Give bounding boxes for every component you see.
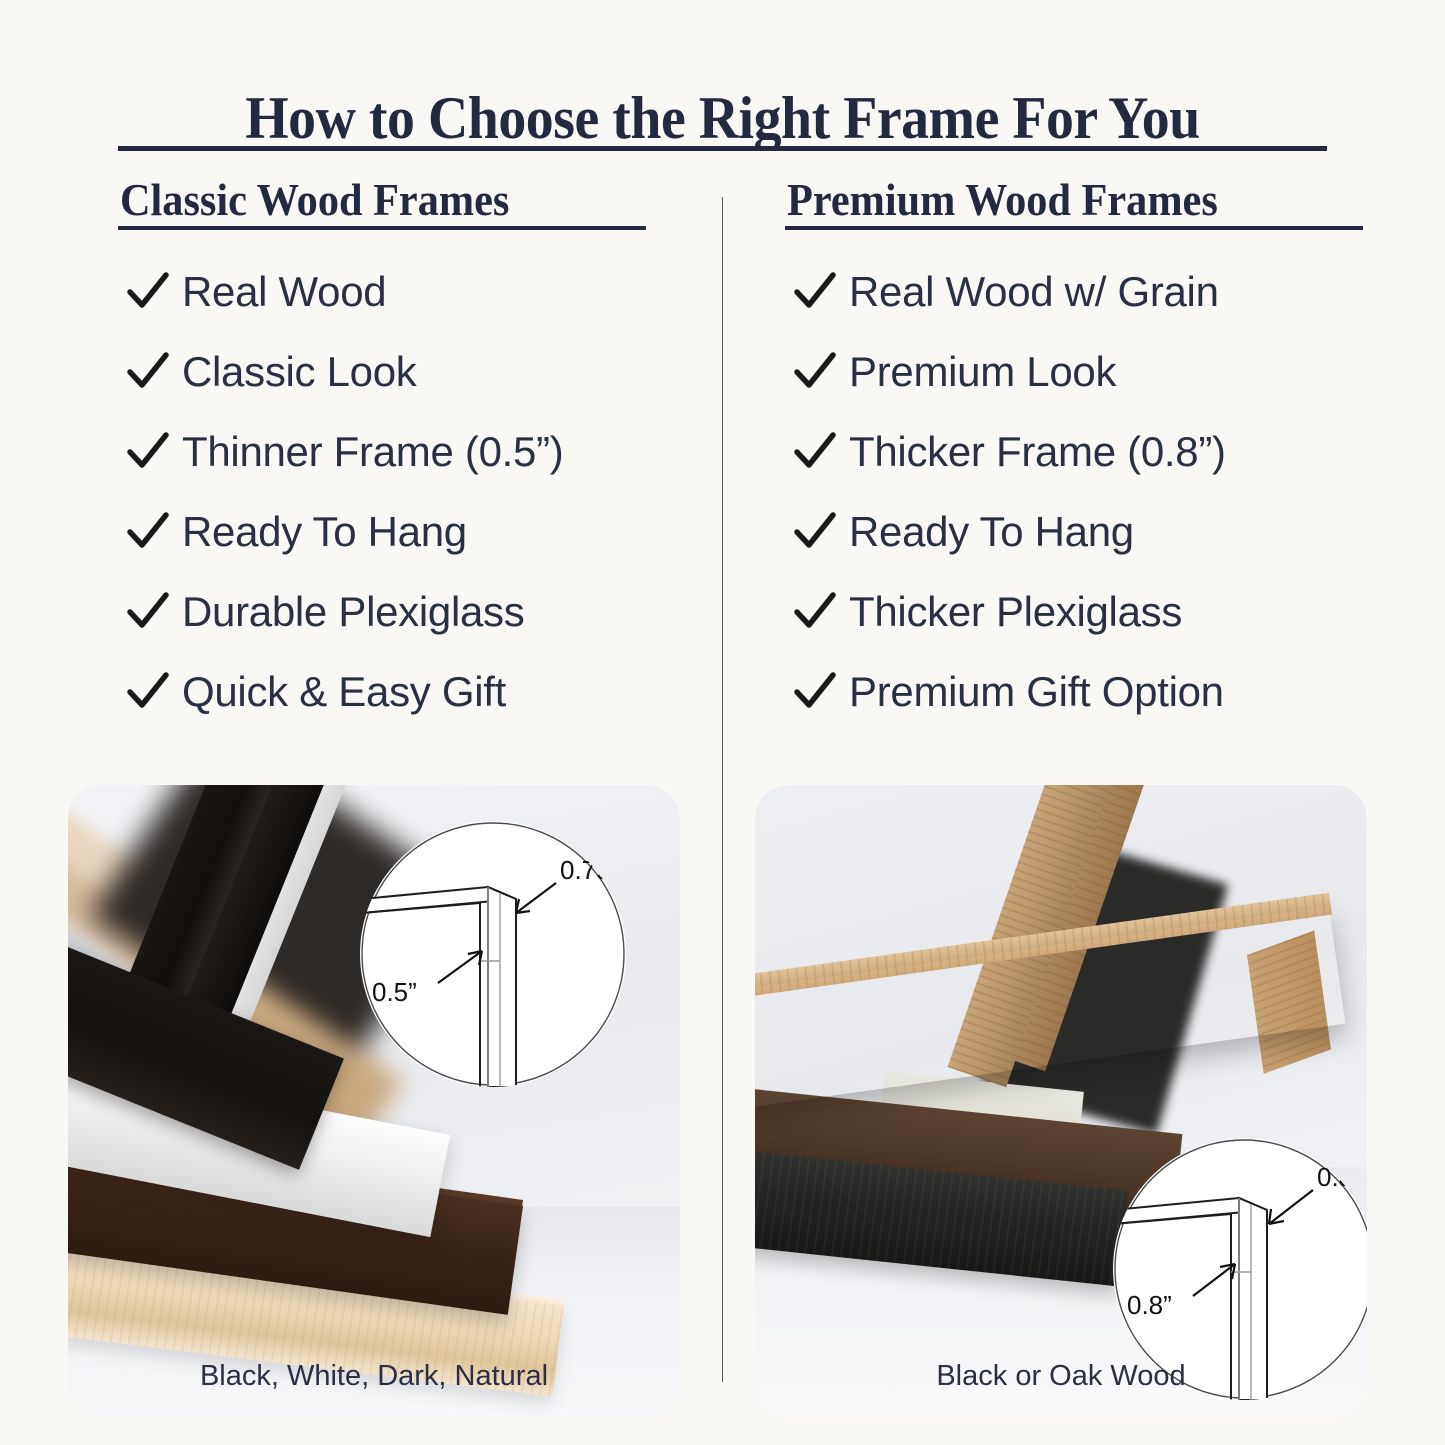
list-item: Thicker Plexiglass xyxy=(793,572,1413,652)
list-item: Ready To Hang xyxy=(126,492,746,572)
feature-label: Thicker Frame (0.8”) xyxy=(849,428,1226,476)
diagram-width-label: 0.5” xyxy=(372,977,417,1007)
feature-label: Thicker Plexiglass xyxy=(849,588,1182,636)
feature-label: Durable Plexiglass xyxy=(182,588,524,636)
feature-list-premium: Real Wood w/ Grain Premium Look Thicker … xyxy=(793,252,1413,732)
check-icon xyxy=(126,350,182,394)
check-icon xyxy=(126,670,182,714)
feature-label: Classic Look xyxy=(182,348,417,396)
feature-label: Premium Look xyxy=(849,348,1116,396)
feature-label: Real Wood xyxy=(182,268,386,316)
frame-dimension-diagram-classic: 0.75” 0.5” xyxy=(360,821,626,1087)
check-icon xyxy=(126,590,182,634)
column-heading-underline-classic xyxy=(118,226,646,230)
feature-label: Thinner Frame (0.5”) xyxy=(182,428,563,476)
photo-caption-classic: Black, White, Dark, Natural xyxy=(68,1360,680,1393)
diagram-width-label: 0.8” xyxy=(1127,1290,1172,1320)
check-icon xyxy=(126,270,182,314)
check-icon xyxy=(793,350,849,394)
check-icon xyxy=(793,510,849,554)
check-icon xyxy=(126,430,182,474)
check-icon xyxy=(793,430,849,474)
list-item: Thinner Frame (0.5”) xyxy=(126,412,746,492)
page-title: How to Choose the Right Frame For You xyxy=(51,84,1395,153)
check-icon xyxy=(793,670,849,714)
list-item: Real Wood w/ Grain xyxy=(793,252,1413,332)
feature-label: Premium Gift Option xyxy=(849,668,1224,716)
photo-caption-premium: Black or Oak Wood xyxy=(755,1360,1367,1393)
list-item: Classic Look xyxy=(126,332,746,412)
feature-label: Ready To Hang xyxy=(849,508,1134,556)
check-icon xyxy=(793,270,849,314)
list-item: Quick & Easy Gift xyxy=(126,652,746,732)
list-item: Thicker Frame (0.8”) xyxy=(793,412,1413,492)
page-title-underline xyxy=(118,146,1327,151)
photo-panel-classic: 0.75” 0.5” Black, White, Dark, Natural xyxy=(68,785,680,1417)
column-heading-classic: Classic Wood Frames xyxy=(120,174,509,226)
list-item: Premium Gift Option xyxy=(793,652,1413,732)
list-item: Durable Plexiglass xyxy=(126,572,746,652)
feature-label: Ready To Hang xyxy=(182,508,467,556)
column-heading-premium: Premium Wood Frames xyxy=(787,174,1218,226)
list-item: Ready To Hang xyxy=(793,492,1413,572)
list-item: Real Wood xyxy=(126,252,746,332)
check-icon xyxy=(793,590,849,634)
feature-label: Real Wood w/ Grain xyxy=(849,268,1219,316)
check-icon xyxy=(126,510,182,554)
photo-panel-premium: 0.8” 0.8” Black or Oak Wood xyxy=(755,785,1367,1417)
list-item: Premium Look xyxy=(793,332,1413,412)
column-heading-underline-premium xyxy=(785,226,1363,230)
feature-list-classic: Real Wood Classic Look Thinner Frame (0.… xyxy=(126,252,746,732)
feature-label: Quick & Easy Gift xyxy=(182,668,506,716)
